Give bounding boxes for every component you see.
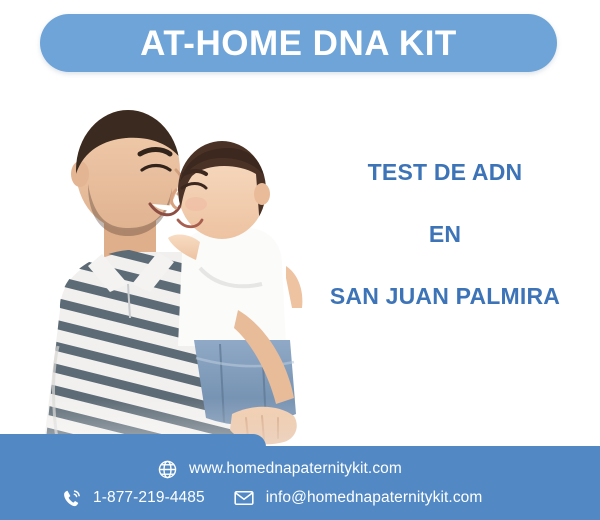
title-banner: AT-HOME DNA KIT [40, 14, 557, 72]
headline-line-2: EN [300, 222, 590, 246]
footer-row-website: www.homednapaternitykit.com [156, 458, 402, 480]
family-photo [0, 78, 330, 458]
footer-row-contact: 1-877-219-4485 info@homednapaternitykit.… [60, 487, 482, 509]
headline-block: TEST DE ADN EN SAN JUAN PALMIRA [300, 160, 590, 308]
envelope-icon [233, 487, 255, 509]
phone-text: 1-877-219-4485 [93, 489, 205, 507]
poster-title: AT-HOME DNA KIT [140, 26, 457, 61]
website-text: www.homednapaternitykit.com [189, 460, 402, 478]
website-item[interactable]: www.homednapaternitykit.com [156, 458, 402, 480]
poster-canvas: AT-HOME DNA KIT [0, 0, 600, 520]
phone-icon [60, 487, 82, 509]
email-item[interactable]: info@homednapaternitykit.com [233, 487, 483, 509]
phone-item[interactable]: 1-877-219-4485 [60, 487, 205, 509]
globe-icon [156, 458, 178, 480]
email-text: info@homednapaternitykit.com [266, 489, 483, 507]
headline-line-3: SAN JUAN PALMIRA [300, 284, 590, 308]
headline-line-1: TEST DE ADN [300, 160, 590, 184]
